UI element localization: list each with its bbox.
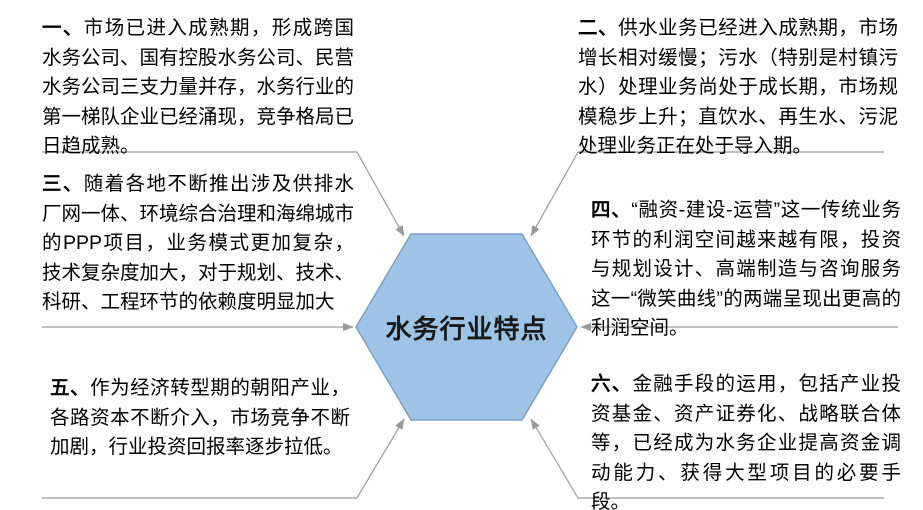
diagram-canvas: 一、市场已进入成熟期，形成跨国水务公司、国有控股水务公司、民营水务公司三支力量并… (0, 0, 923, 510)
feature-body-three: 随着各地不断推出涉及供排水厂网一体、环境综合治理和海绵城市的PPP项目，业务模式… (42, 173, 354, 313)
feature-body-five: 作为经济转型期的朝阳产业，各路资本不断介入，市场竞争不断加剧，行业投资回报率逐步… (50, 377, 350, 458)
center-hexagon-label: 水务行业特点 (355, 233, 578, 421)
feature-text-two: 二、供水业务已经进入成熟期，市场增长相对缓慢；污水（特别是村镇污水）处理业务尚处… (578, 14, 898, 162)
feature-number-five: 五、 (50, 377, 90, 399)
feature-text-one: 一、市场已进入成熟期，形成跨国水务公司、国有控股水务公司、民营水务公司三支力量并… (42, 14, 354, 162)
feature-body-two: 供水业务已经进入成熟期，市场增长相对缓慢；污水（特别是村镇污水）处理业务尚处于成… (578, 17, 898, 157)
feature-text-four: 四、“融资-建设-运营”这一传统业务环节的利润空间越来越有限，投资与规划设计、高… (591, 196, 901, 344)
feature-body-six: 金融手段的运用，包括产业投资基金、资产证券化、战略联合体等，已经成为水务企业提高… (591, 373, 901, 510)
feature-number-three: 三、 (42, 173, 84, 195)
feature-text-five: 五、作为经济转型期的朝阳产业，各路资本不断介入，市场竞争不断加剧，行业投资回报率… (50, 374, 350, 463)
feature-number-one: 一、 (42, 17, 84, 39)
center-hexagon: 水务行业特点 (355, 233, 578, 421)
feature-number-four: 四、 (591, 199, 631, 221)
feature-text-three: 三、随着各地不断推出涉及供排水厂网一体、环境综合治理和海绵城市的PPP项目，业务… (42, 170, 354, 318)
feature-text-six: 六、金融手段的运用，包括产业投资基金、资产证券化、战略联合体等，已经成为水务企业… (591, 370, 901, 510)
feature-body-one: 市场已进入成熟期，形成跨国水务公司、国有控股水务公司、民营水务公司三支力量并存，… (42, 17, 354, 157)
feature-number-six: 六、 (591, 373, 633, 395)
feature-number-two: 二、 (578, 17, 618, 39)
feature-body-four: “融资-建设-运营”这一传统业务环节的利润空间越来越有限，投资与规划设计、高端制… (591, 199, 901, 339)
